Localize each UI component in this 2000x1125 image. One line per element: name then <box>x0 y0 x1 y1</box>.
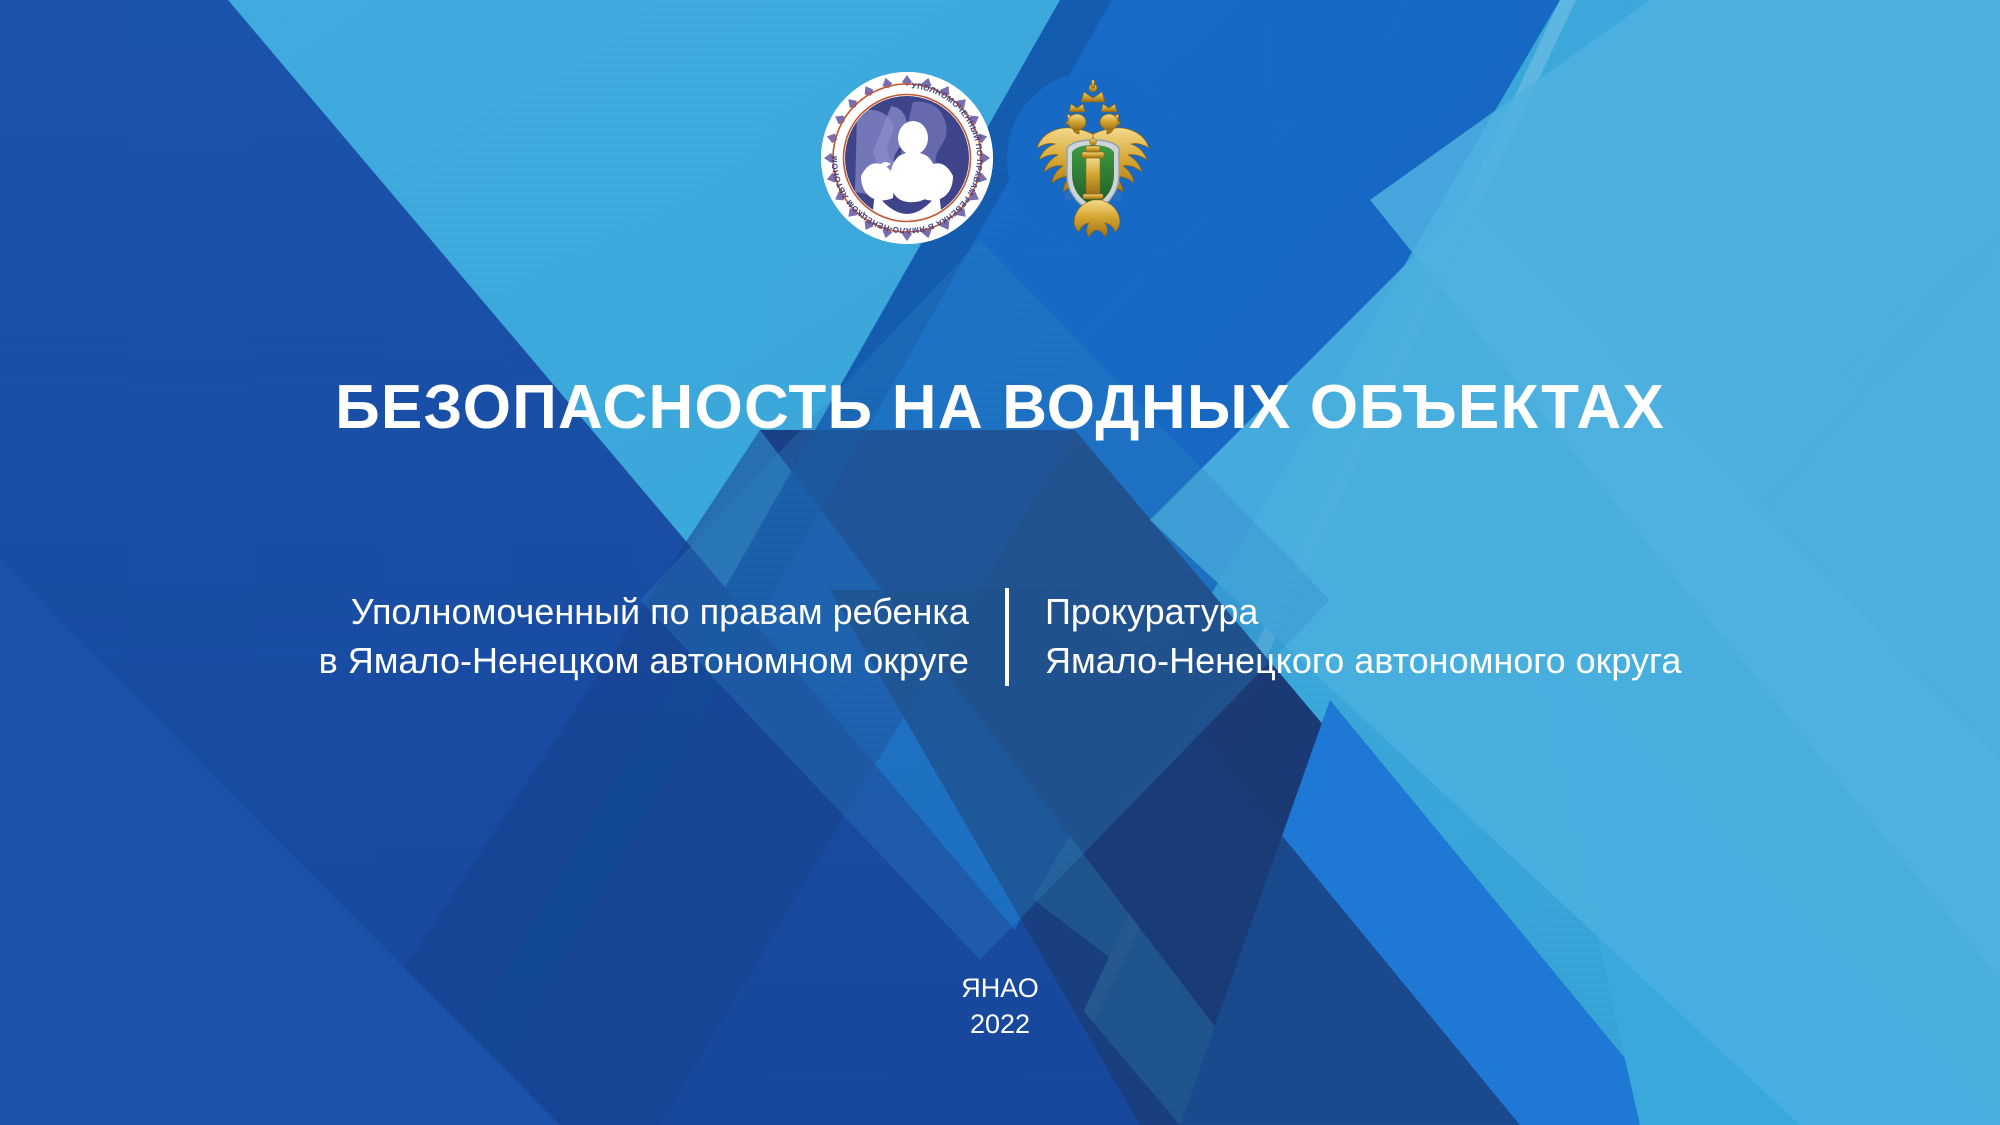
ombudsman-emblem-art: УПОЛНОМОЧЕННЫЙ ПО ПРАВАМ РЕБЕНКА В ЯМАЛО… <box>821 72 993 244</box>
organization-right-line2: Ямало-Ненецкого автономного округа <box>1045 637 1681 686</box>
emblem-row: УПОЛНОМОЧЕННЫЙ ПО ПРАВАМ РЕБЕНКА В ЯМАЛО… <box>0 72 2000 244</box>
organization-right-line1: Прокуратура <box>1045 588 1681 637</box>
prosecutor-office-emblem <box>1007 72 1179 244</box>
organizations-block: Уполномоченный по правам ребенка в Ямало… <box>0 588 2000 686</box>
slide-footer: ЯНАО 2022 <box>0 970 2000 1043</box>
slide-content: УПОЛНОМОЧЕННЫЙ ПО ПРАВАМ РЕБЕНКА В ЯМАЛО… <box>0 0 2000 1125</box>
organization-left: Уполномоченный по правам ребенка в Ямало… <box>319 588 1005 686</box>
organization-left-line2: в Ямало-Ненецком автономном округе <box>319 637 969 686</box>
organization-left-line1: Уполномоченный по правам ребенка <box>319 588 969 637</box>
footer-place: ЯНАО <box>0 970 2000 1006</box>
prosecutor-emblem-art <box>1007 72 1179 244</box>
ombudsman-children-rights-emblem: УПОЛНОМОЧЕННЫЙ ПО ПРАВАМ РЕБЕНКА В ЯМАЛО… <box>821 72 993 244</box>
presentation-title-slide: УПОЛНОМОЧЕННЫЙ ПО ПРАВАМ РЕБЕНКА В ЯМАЛО… <box>0 0 2000 1125</box>
page-title: БЕЗОПАСНОСТЬ НА ВОДНЫХ ОБЪЕКТАХ <box>0 374 2000 442</box>
footer-year: 2022 <box>0 1006 2000 1042</box>
organization-right: Прокуратура Ямало-Ненецкого автономного … <box>1009 588 1681 686</box>
